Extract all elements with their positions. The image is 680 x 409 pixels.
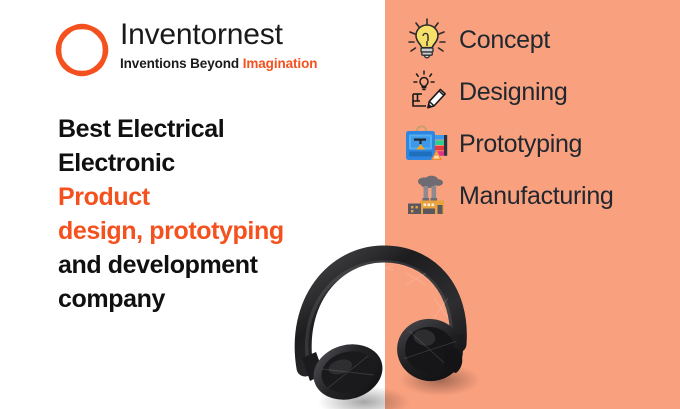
brand-tagline: Inventions Beyond Imagination [120, 54, 317, 74]
service-label-concept: Concept [459, 26, 550, 55]
brand-wordmark: Inventornest [120, 18, 317, 52]
brand-logo: Inventornest Inventions Beyond Imaginati… [50, 14, 350, 86]
service-item-concept[interactable]: Concept [403, 14, 678, 66]
headline-line-3: Product [58, 180, 368, 214]
service-item-prototyping[interactable]: Prototyping [403, 118, 678, 170]
inventornest-nest-logo-icon [50, 18, 114, 82]
tagline-accent: Imagination [243, 56, 318, 71]
service-label-manufacturing: Manufacturing [459, 182, 614, 211]
tagline-prefix: Inventions Beyond [120, 56, 243, 71]
promo-banner: Inventornest Inventions Beyond Imaginati… [0, 0, 680, 409]
services-list: Concept [403, 14, 678, 222]
headline-line-2: Electronic [58, 146, 368, 180]
black-over-ear-headphones-image [272, 240, 502, 409]
pencil-design-icon [403, 68, 451, 116]
brand-text: Inventornest Inventions Beyond Imaginati… [120, 18, 317, 74]
headline-line-1: Best Electrical [58, 112, 368, 146]
3d-printer-icon [403, 120, 451, 168]
service-label-prototyping: Prototyping [459, 130, 582, 159]
lightbulb-icon [403, 16, 451, 64]
factory-icon [403, 172, 451, 220]
service-item-designing[interactable]: Designing [403, 66, 678, 118]
service-item-manufacturing[interactable]: Manufacturing [403, 170, 678, 222]
service-label-designing: Designing [459, 78, 567, 107]
